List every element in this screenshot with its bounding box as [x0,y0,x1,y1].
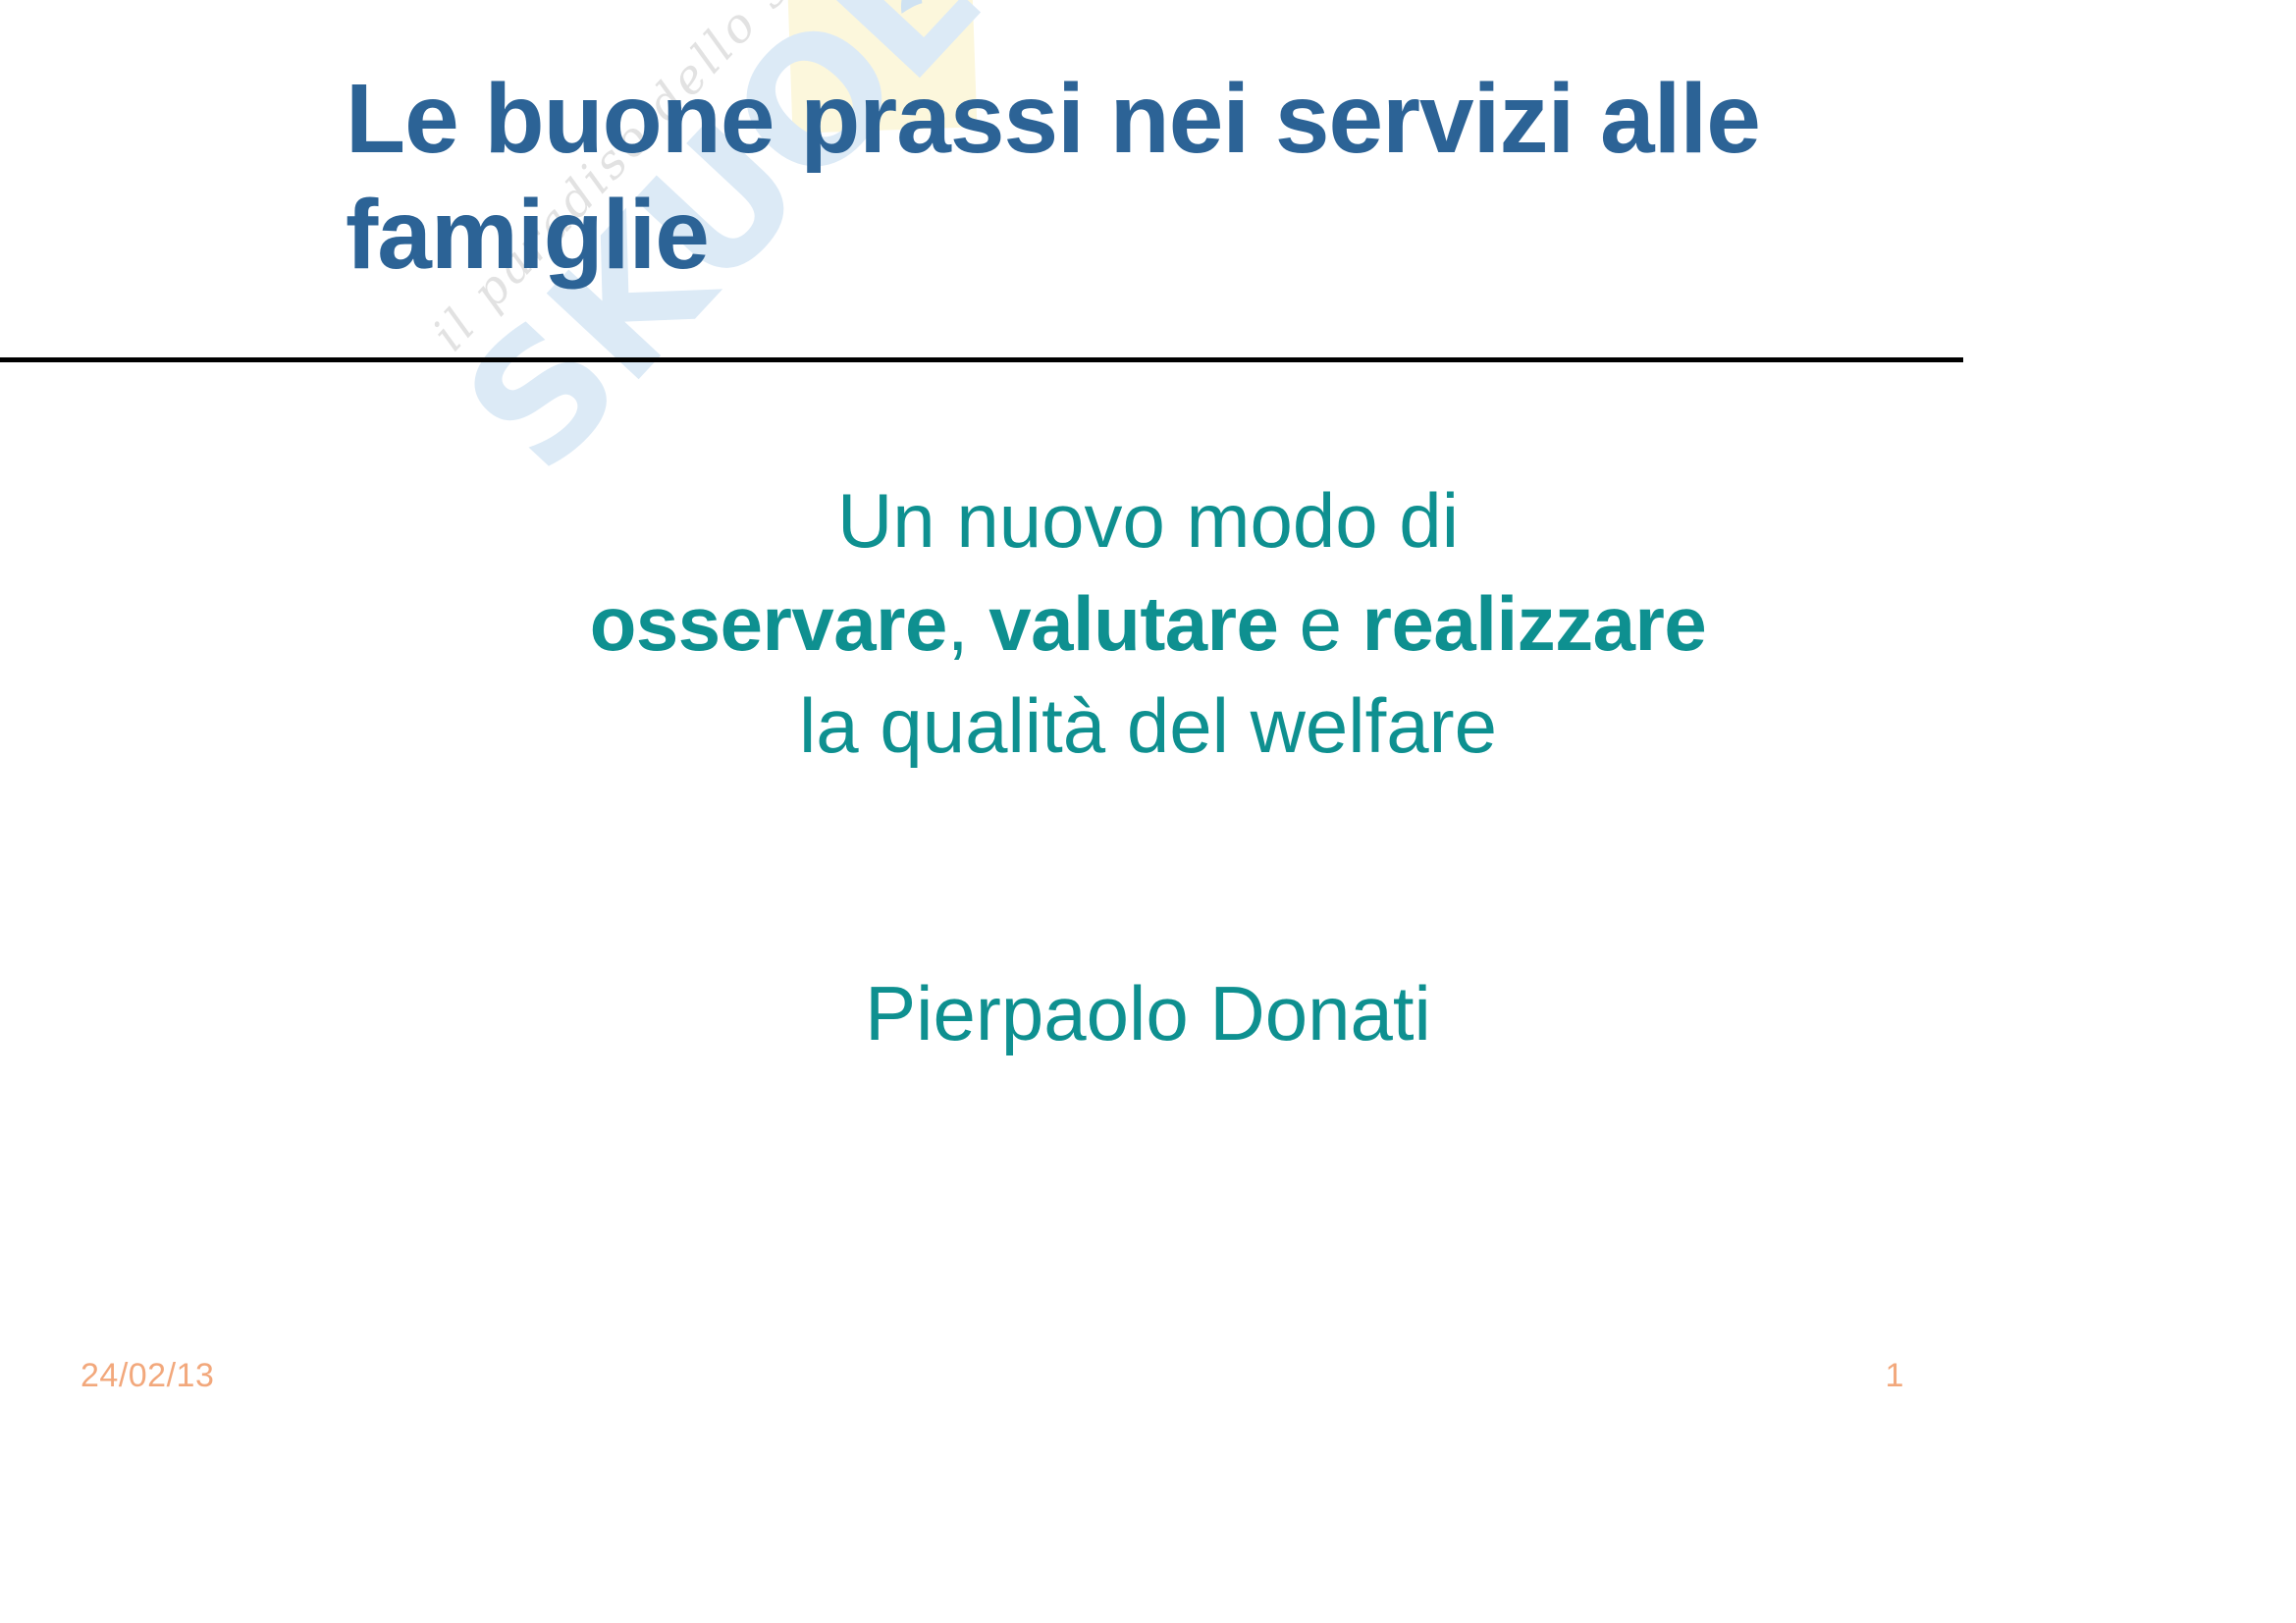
subtitle-line-2: osservare, valutare e realizzare [0,572,2296,676]
separator-e: e [1278,580,1362,667]
footer-page-number: 1 [1865,1357,1924,1395]
keyword-valutare: valutare [988,580,1278,667]
slide-content: Le buone prassi nei servizi alle famigli… [0,0,2296,1623]
page-title: Le buone prassi nei servizi alle famigli… [346,61,2034,293]
presentation-slide: SKUOLa.net il paradiso dello studente Le… [0,0,2296,1623]
title-divider [0,357,1963,362]
keyword-realizzare: realizzare [1362,580,1707,667]
keyword-osservare: osservare [590,580,947,667]
footer-date: 24/02/13 [80,1357,214,1395]
subtitle-line-3: la qualità del welfare [0,675,2296,778]
subtitle-line-1: Un nuovo modo di [0,469,2296,572]
subtitle-block: Un nuovo modo di osservare, valutare e r… [0,469,2296,778]
author-name: Pierpaolo Donati [0,962,2296,1065]
separator-comma: , [947,580,988,667]
